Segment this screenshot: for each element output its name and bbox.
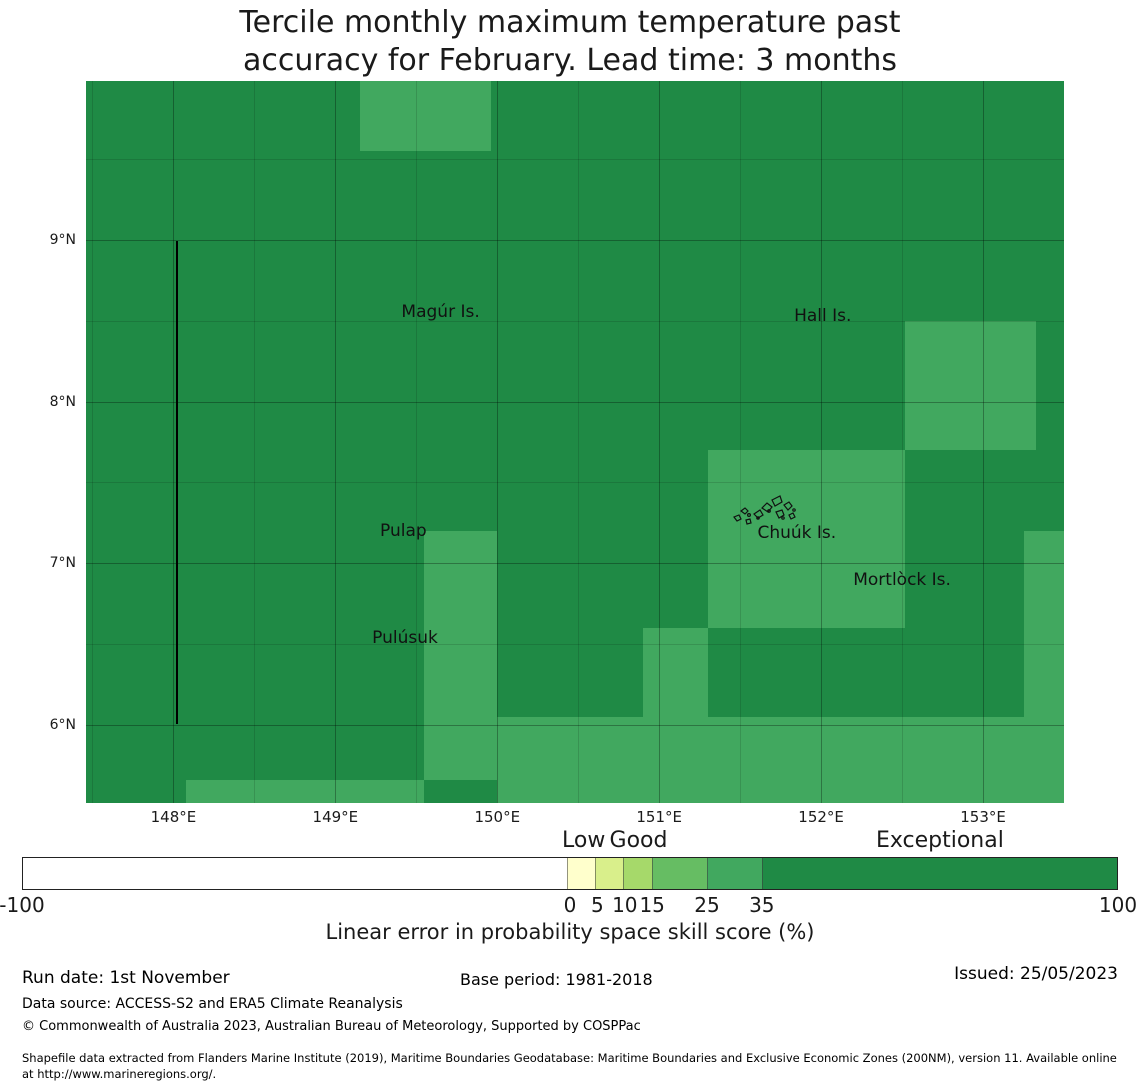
colorbar-segment	[567, 858, 595, 889]
map-label-pulap: Pulap	[380, 521, 427, 541]
colorbar-tick-labels: -1000510152535100	[0, 893, 1140, 917]
page-title: Tercile monthly maximum temperature past…	[0, 4, 1140, 80]
y-axis-tick-label: 7°N	[16, 555, 76, 571]
colorbar-category-good: Good	[610, 828, 668, 853]
colorbar-segment	[762, 858, 1117, 889]
shapefile-credit-text: Shapefile data extracted from Flanders M…	[22, 1050, 1122, 1082]
footer: Run date: 1st November Base period: 1981…	[0, 968, 1140, 994]
title-line-2: accuracy for February. Lead time: 3 mont…	[0, 42, 1140, 80]
colorbar-segment	[707, 858, 762, 889]
colorbar-segment	[652, 858, 707, 889]
issued-date-text: Issued: 25/05/2023	[954, 964, 1118, 984]
x-axis-tick-label: 153°E	[960, 808, 1006, 826]
data-source-text: Data source: ACCESS-S2 and ERA5 Climate …	[22, 996, 403, 1012]
colorbar-tick-label: 10	[612, 893, 637, 917]
base-period-text: Base period: 1981-2018	[460, 970, 653, 989]
island-outlines	[86, 81, 1064, 803]
colorbar-tick-label: 100	[1099, 893, 1137, 917]
run-date-text: Run date: 1st November	[22, 968, 230, 988]
colorbar[interactable]	[22, 857, 1118, 890]
colorbar-tick-label: 15	[639, 893, 664, 917]
colorbar-segment	[623, 858, 651, 889]
colorbar-category-exceptional: Exceptional	[876, 828, 1004, 853]
colorbar-tick-label: 35	[749, 893, 774, 917]
y-axis-tick-label: 6°N	[16, 717, 76, 733]
map-label-magur-is: Magúr Is.	[401, 302, 479, 322]
x-axis-tick-label: 148°E	[151, 808, 197, 826]
map-label-pulusuk: Pulúsuk	[372, 628, 438, 648]
colorbar-segment	[23, 858, 567, 889]
x-axis-tick-label: 152°E	[798, 808, 844, 826]
colorbar-category-labels: LowGoodExceptional	[0, 828, 1140, 854]
colorbar-tick-label: -100	[0, 893, 45, 917]
y-axis-tick-label: 9°N	[16, 232, 76, 248]
map-label-hall-is: Hall Is.	[794, 306, 851, 326]
map-plot-area[interactable]: Magúr Is.Hall Is.PulapPulúsukChuúk Is.Mo…	[86, 81, 1064, 803]
colorbar-segment	[595, 858, 623, 889]
x-axis-tick-label: 151°E	[636, 808, 682, 826]
colorbar-axis-label: Linear error in probability space skill …	[0, 920, 1140, 944]
y-axis-tick-label: 8°N	[16, 394, 76, 410]
map-label-chuuk-is: Chuúk Is.	[757, 523, 836, 543]
map-label-mortlock-is: Mortlòck Is.	[853, 570, 951, 590]
colorbar-tick-label: 5	[591, 893, 604, 917]
title-line-1: Tercile monthly maximum temperature past	[0, 4, 1140, 42]
colorbar-category-low: Low	[562, 828, 605, 853]
colorbar-tick-label: 0	[564, 893, 577, 917]
x-axis-tick-label: 150°E	[474, 808, 520, 826]
copyright-text: © Commonwealth of Australia 2023, Austra…	[22, 1019, 641, 1034]
colorbar-tick-label: 25	[694, 893, 719, 917]
x-axis-tick-label: 149°E	[313, 808, 359, 826]
